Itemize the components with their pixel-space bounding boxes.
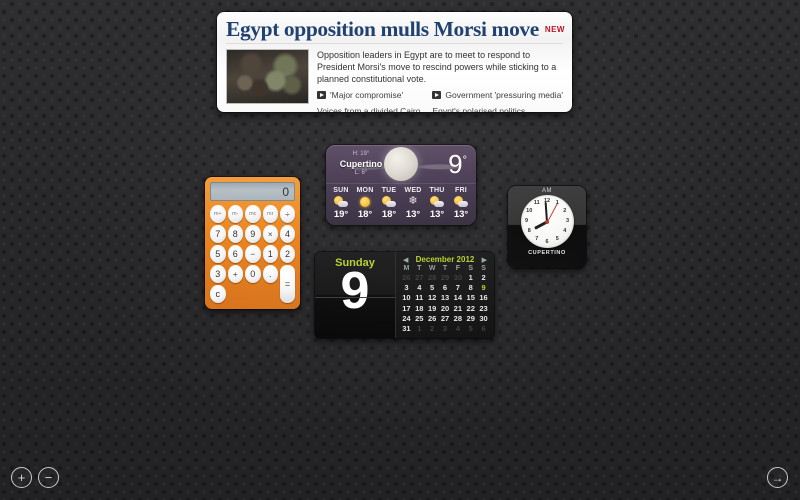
- forecast-day-mon[interactable]: MON 18°: [353, 187, 377, 220]
- calendar-day-cell[interactable]: 17: [400, 304, 413, 314]
- video-icon: [432, 91, 441, 99]
- forecast-day-wed[interactable]: WED ❄ 13°: [401, 187, 425, 220]
- next-page-button[interactable]: →: [767, 467, 788, 488]
- news-link-polarised-politics[interactable]: Egypt's polarised politics: [432, 106, 563, 112]
- dow-label: S: [464, 265, 477, 273]
- calendar-day-cell[interactable]: 18: [413, 304, 426, 314]
- calc-key-9[interactable]: 9: [245, 225, 261, 243]
- calc-key-memory-clear[interactable]: mc: [245, 205, 261, 223]
- calc-key-memory-recall[interactable]: mr: [263, 205, 279, 223]
- clock-numeral: 8: [525, 228, 533, 234]
- clock-numeral: 12: [543, 198, 551, 204]
- calendar-day-cell[interactable]: 25: [413, 314, 426, 324]
- calendar-day-cell[interactable]: 14: [451, 293, 464, 303]
- partly-sunny-icon: [449, 194, 473, 209]
- calendar-day-cell[interactable]: 26: [426, 314, 439, 324]
- clock-numeral: 7: [533, 236, 541, 242]
- calendar-day-cell[interactable]: 4: [413, 283, 426, 293]
- calc-key-0[interactable]: 0: [245, 265, 261, 283]
- dow-label: T: [413, 265, 426, 273]
- calc-key-6[interactable]: 6: [228, 245, 244, 263]
- calendar-day-cell[interactable]: 24: [400, 314, 413, 324]
- calendar-day-cell[interactable]: 6: [439, 283, 452, 293]
- calendar-day-cell[interactable]: 31: [400, 324, 413, 334]
- calculator-widget[interactable]: 0 m+ m- mc mr ÷ 7 8 9 × 4 5 6 − 1 2 3 + …: [205, 177, 300, 309]
- calendar-day-of-week-header: M T W T F S S: [400, 265, 490, 273]
- calc-key-multiply[interactable]: ×: [263, 225, 279, 243]
- calendar-day-cell: 3: [439, 324, 452, 334]
- clock-numeral: 11: [533, 200, 541, 206]
- calendar-day-cell[interactable]: 2: [477, 273, 490, 283]
- forecast-day-label: MON: [353, 187, 377, 194]
- news-body: Opposition leaders in Egypt are to meet …: [226, 49, 563, 112]
- calc-key-subtract[interactable]: −: [245, 245, 261, 263]
- news-headline[interactable]: Egypt opposition mulls Morsi move: [226, 18, 539, 41]
- news-text-column: Opposition leaders in Egypt are to meet …: [317, 49, 563, 112]
- clock-ampm-label: AM: [542, 188, 552, 194]
- calc-key-5[interactable]: 5: [210, 245, 226, 263]
- calendar-month-bar: ◀ December 2012 ▶: [400, 255, 490, 265]
- calendar-week-row: 10111213141516: [400, 293, 490, 303]
- news-link-voices-divided-cairo[interactable]: Voices from a divided Cairo: [317, 106, 426, 112]
- forecast-day-label: TUE: [377, 187, 401, 194]
- partly-sunny-icon: [377, 194, 401, 209]
- calendar-day-cell[interactable]: 5: [426, 283, 439, 293]
- news-widget[interactable]: Egypt opposition mulls Morsi move NEW Op…: [217, 12, 572, 112]
- news-link-label: 'Major compromise': [330, 90, 403, 100]
- calc-key-memory-add[interactable]: m+: [210, 205, 226, 223]
- calc-key-7[interactable]: 7: [210, 225, 226, 243]
- forecast-day-temp: 13°: [401, 209, 425, 220]
- calendar-week-row: 3456789: [400, 283, 490, 293]
- calendar-day-cell[interactable]: 22: [464, 304, 477, 314]
- weather-current-temp: 9°: [448, 151, 469, 177]
- calc-key-8[interactable]: 8: [228, 225, 244, 243]
- calendar-day-cell[interactable]: 10: [400, 293, 413, 303]
- news-link-pressuring-media[interactable]: Government 'pressuring media': [432, 90, 563, 100]
- weather-forecast-row: SUN 19° MON 18° TUE 18° WED ❄ 13° THU: [326, 183, 476, 224]
- calendar-month-panel: ◀ December 2012 ▶ M T W T F S S 26272829…: [396, 252, 494, 338]
- clock-numeral: 4: [561, 228, 569, 234]
- calendar-day-cell: 4: [451, 324, 464, 334]
- forecast-day-label: FRI: [449, 187, 473, 194]
- clock-widget[interactable]: AM 121234567891011 CUPERTINO: [508, 186, 586, 268]
- weather-low-temp: L: 6°: [333, 169, 389, 178]
- calendar-day-cell: 27: [413, 273, 426, 283]
- calendar-day-cell[interactable]: 8: [464, 283, 477, 293]
- clock-numeral: 6: [543, 239, 551, 245]
- news-link-label: Government 'pressuring media': [445, 90, 563, 100]
- news-links: 'Major compromise' Government 'pressurin…: [317, 90, 563, 112]
- clock-city-label: CUPERTINO: [528, 250, 566, 256]
- calendar-week-row: 24252627282930: [400, 314, 490, 324]
- snow-icon: ❄: [401, 194, 425, 209]
- calendar-day-number: 9: [341, 267, 370, 317]
- calendar-day-cell[interactable]: 21: [451, 304, 464, 314]
- calendar-day-cell: 6: [477, 324, 490, 334]
- calendar-week-row: 262728293012: [400, 273, 490, 283]
- weather-city-block: H: 19° Cupertino L: 6°: [333, 150, 389, 179]
- degree-symbol: °: [463, 154, 467, 166]
- calendar-day-cell[interactable]: 12: [426, 293, 439, 303]
- weather-high-temp: H: 19°: [333, 150, 389, 159]
- calculator-display: 0: [210, 182, 295, 201]
- calc-key-2[interactable]: 2: [280, 245, 295, 263]
- forecast-day-temp: 18°: [353, 209, 377, 220]
- weather-current-conditions: H: 19° Cupertino L: 6° 9°: [326, 145, 476, 183]
- calc-key-1[interactable]: 1: [263, 245, 279, 263]
- calc-key-add[interactable]: +: [228, 265, 244, 283]
- forecast-day-temp: 13°: [449, 209, 473, 220]
- calendar-week-row: 17181920212223: [400, 304, 490, 314]
- forecast-day-label: WED: [401, 187, 425, 194]
- calendar-month-label: December 2012: [416, 255, 475, 264]
- forecast-day-label: THU: [425, 187, 449, 194]
- news-link-major-compromise[interactable]: 'Major compromise': [317, 90, 426, 100]
- weather-widget[interactable]: H: 19° Cupertino L: 6° 9° SUN 19° MON 18…: [326, 145, 476, 225]
- calendar-day-cell[interactable]: 7: [451, 283, 464, 293]
- video-icon: [317, 91, 326, 99]
- clock-numeral: 9: [523, 218, 531, 224]
- calendar-day-cell[interactable]: 28: [451, 314, 464, 324]
- calendar-day-cell[interactable]: 20: [439, 304, 452, 314]
- forecast-day-temp: 18°: [377, 209, 401, 220]
- calc-key-equals[interactable]: =: [280, 265, 295, 303]
- news-headline-row: Egypt opposition mulls Morsi move NEW: [226, 18, 563, 44]
- forecast-day-temp: 13°: [425, 209, 449, 220]
- sunny-icon: [353, 194, 377, 209]
- weather-current-temp-value: 9: [448, 149, 462, 179]
- calendar-day-cell[interactable]: 30: [477, 314, 490, 324]
- clock-numeral: 1: [553, 200, 561, 206]
- clock-numeral: 3: [564, 218, 572, 224]
- calendar-day-cell[interactable]: 9: [477, 283, 490, 293]
- calendar-day-cell: 26: [400, 273, 413, 283]
- weather-city-name: Cupertino: [333, 159, 389, 170]
- partly-sunny-icon: [329, 194, 353, 209]
- calendar-day-cell: 2: [426, 324, 439, 334]
- calendar-day-cell[interactable]: 29: [464, 314, 477, 324]
- dow-label: F: [451, 265, 464, 273]
- clock-numeral: 5: [553, 236, 561, 242]
- calendar-next-month-icon[interactable]: ▶: [482, 256, 487, 264]
- forecast-day-sun[interactable]: SUN 19°: [329, 187, 353, 220]
- calendar-day-cell[interactable]: 27: [439, 314, 452, 324]
- calc-key-divide[interactable]: ÷: [280, 205, 295, 223]
- clock-center-pin: [545, 220, 549, 224]
- calc-key-memory-subtract[interactable]: m-: [228, 205, 244, 223]
- calendar-day-cell[interactable]: 11: [413, 293, 426, 303]
- calculator-keypad: m+ m- mc mr ÷ 7 8 9 × 4 5 6 − 1 2 3 + 0 …: [210, 205, 295, 303]
- calendar-widget[interactable]: Sunday 9 ◀ December 2012 ▶ M T W T F S S…: [315, 252, 494, 338]
- calendar-day-cell[interactable]: 1: [464, 273, 477, 283]
- calc-key-decimal[interactable]: .: [263, 265, 279, 283]
- remove-widget-button[interactable]: −: [38, 467, 59, 488]
- dow-label: T: [439, 265, 452, 273]
- news-link-label: Egypt's polarised politics: [432, 106, 525, 112]
- news-new-badge: NEW: [545, 25, 565, 34]
- dow-label: W: [426, 265, 439, 273]
- calendar-week-row: 31123456: [400, 324, 490, 334]
- calendar-day-cell[interactable]: 19: [426, 304, 439, 314]
- calendar-day-cell: 1: [413, 324, 426, 334]
- forecast-day-fri[interactable]: FRI 13°: [449, 187, 473, 220]
- news-link-label: Voices from a divided Cairo: [317, 106, 420, 112]
- calendar-day-cell[interactable]: 23: [477, 304, 490, 314]
- calendar-today-panel: Sunday 9: [315, 252, 396, 338]
- news-thumbnail-image[interactable]: [226, 49, 309, 104]
- clock-numeral: 2: [561, 208, 569, 214]
- calendar-prev-month-icon[interactable]: ◀: [403, 256, 408, 264]
- calendar-grid: 2627282930123456789101112131415161718192…: [400, 273, 490, 334]
- calendar-day-cell[interactable]: 16: [477, 293, 490, 303]
- clock-face: 121234567891011: [521, 195, 574, 248]
- calendar-day-cell: 29: [439, 273, 452, 283]
- calc-key-4[interactable]: 4: [280, 225, 295, 243]
- clock-numeral: 10: [525, 208, 533, 214]
- news-summary: Opposition leaders in Egypt are to meet …: [317, 49, 563, 85]
- calendar-day-cell[interactable]: 15: [464, 293, 477, 303]
- calendar-day-cell: 5: [464, 324, 477, 334]
- forecast-day-thu[interactable]: THU 13°: [425, 187, 449, 220]
- calendar-day-cell: 28: [426, 273, 439, 283]
- calendar-day-cell[interactable]: 13: [439, 293, 452, 303]
- forecast-day-temp: 19°: [329, 209, 353, 220]
- forecast-day-tue[interactable]: TUE 18°: [377, 187, 401, 220]
- calc-key-clear[interactable]: c: [210, 285, 226, 303]
- dow-label: S: [477, 265, 490, 273]
- partly-sunny-icon: [425, 194, 449, 209]
- calendar-day-cell: 30: [451, 273, 464, 283]
- calendar-day-cell[interactable]: 3: [400, 283, 413, 293]
- dow-label: M: [400, 265, 413, 273]
- add-widget-button[interactable]: +: [11, 467, 32, 488]
- dashboard-canvas: Egypt opposition mulls Morsi move NEW Op…: [0, 0, 800, 500]
- calc-key-3[interactable]: 3: [210, 265, 226, 283]
- forecast-day-label: SUN: [329, 187, 353, 194]
